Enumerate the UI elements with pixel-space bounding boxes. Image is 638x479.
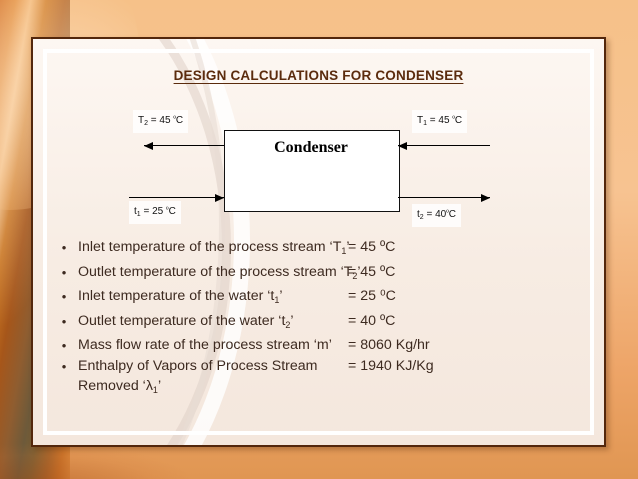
- list-item-body: Mass flow rate of the process stream ‘m’…: [78, 336, 588, 356]
- list-item-label: Mass flow rate of the process stream ‘m’: [78, 336, 332, 356]
- label-unit: C: [455, 115, 462, 126]
- bullet-marker-icon: •: [50, 238, 78, 258]
- list-item-text: Outlet temperature of the process stream…: [78, 264, 352, 280]
- list-item-label: Inlet temperature of the water ‘t1’: [78, 287, 283, 311]
- list-item: • Inlet temperature of the water ‘t1’ = …: [50, 287, 588, 311]
- label-rest: = 40: [424, 209, 447, 220]
- list-item-text: Inlet temperature of the water ‘t: [78, 288, 274, 304]
- label-process-outlet-temp: T2 = 45 ºC: [133, 110, 188, 133]
- list-item-body: Inlet temperature of the process stream …: [78, 238, 588, 262]
- list-item: • Outlet temperature of the process stre…: [50, 263, 588, 287]
- bullet-marker-icon: •: [50, 312, 78, 332]
- arrow-head-top-right-icon: [398, 142, 407, 150]
- label-rest: = 25: [141, 206, 166, 217]
- list-item: • Inlet temperature of the process strea…: [50, 238, 588, 262]
- list-item-continuation: Removed ‘λ1’: [50, 377, 588, 401]
- bullet-marker-icon: •: [50, 287, 78, 307]
- arrow-line-bottom-right: [398, 197, 490, 198]
- label-process-inlet-temp: T1 = 45 ºC: [412, 110, 467, 133]
- condenser-box-label: Condenser: [224, 139, 398, 157]
- label-rest: = 45: [148, 115, 173, 126]
- arrow-line-top-left: [144, 145, 224, 146]
- list-item-value: = 8060 Kg/hr: [348, 336, 430, 356]
- list-item-value: = 1940 KJ/Kg: [348, 357, 434, 377]
- list-item-value: = 40 ºC: [348, 312, 395, 332]
- bullet-marker-icon: •: [50, 263, 78, 283]
- label-unit: C: [176, 115, 183, 126]
- label-rest: = 45: [427, 115, 452, 126]
- list-item-label: Outlet temperature of the process stream…: [78, 263, 361, 287]
- label-water-outlet-temp: t2 = 40ºC: [412, 204, 461, 227]
- list-item-body: Enthalpy of Vapors of Process Stream = 1…: [78, 357, 588, 377]
- arrow-head-bottom-right-icon: [481, 194, 490, 202]
- list-item-text: Inlet temperature of the process stream …: [78, 239, 341, 255]
- list-item-text-tail: ’: [290, 313, 293, 329]
- arrow-line-bottom-left: [129, 197, 224, 198]
- list-item-body: Outlet temperature of the process stream…: [78, 263, 588, 287]
- list-item-label: Outlet temperature of the water ‘t2’: [78, 312, 294, 336]
- list-item: • Enthalpy of Vapors of Process Stream =…: [50, 357, 588, 377]
- arrow-line-top-right: [398, 145, 490, 146]
- slide-canvas: DESIGN CALCULATIONS FOR CONDENSER Conden…: [0, 0, 638, 479]
- list-item-text: Mass flow rate of the process stream ‘m’: [78, 337, 332, 353]
- label-unit: C: [449, 209, 456, 220]
- list-item: • Outlet temperature of the water ‘t2’ =…: [50, 312, 588, 336]
- list-item-text-tail: ’: [279, 288, 282, 304]
- list-item-body: Outlet temperature of the water ‘t2’ = 4…: [78, 312, 588, 336]
- list-item-continuation-tail: ’: [158, 378, 161, 394]
- list-item: • Mass flow rate of the process stream ‘…: [50, 336, 588, 356]
- arrow-head-bottom-left-icon: [215, 194, 224, 202]
- arrow-head-top-left-icon: [144, 142, 153, 150]
- list-item-body: Inlet temperature of the water ‘t1’ = 25…: [78, 287, 588, 311]
- list-item-text: Enthalpy of Vapors of Process Stream: [78, 358, 317, 374]
- list-item-value: = 25 ⁰C: [348, 287, 396, 307]
- slide-content: DESIGN CALCULATIONS FOR CONDENSER Conden…: [33, 39, 604, 445]
- list-item-label: Inlet temperature of the process stream …: [78, 238, 350, 262]
- label-unit: C: [169, 206, 176, 217]
- list-item-label: Enthalpy of Vapors of Process Stream: [78, 357, 317, 377]
- bullet-marker-icon: •: [50, 336, 78, 356]
- slide-frame: DESIGN CALCULATIONS FOR CONDENSER Conden…: [31, 37, 606, 447]
- bullet-list: • Inlet temperature of the process strea…: [50, 238, 588, 401]
- list-item-text: Outlet temperature of the water ‘t: [78, 313, 285, 329]
- list-item-value: = 45 ºC: [348, 263, 395, 283]
- bullet-marker-icon: •: [50, 357, 78, 377]
- list-item-continuation-text: Removed ‘λ: [78, 378, 153, 394]
- label-water-inlet-temp: t1 = 25 ºC: [129, 201, 181, 224]
- list-item-value: = 45 ºC: [348, 238, 395, 258]
